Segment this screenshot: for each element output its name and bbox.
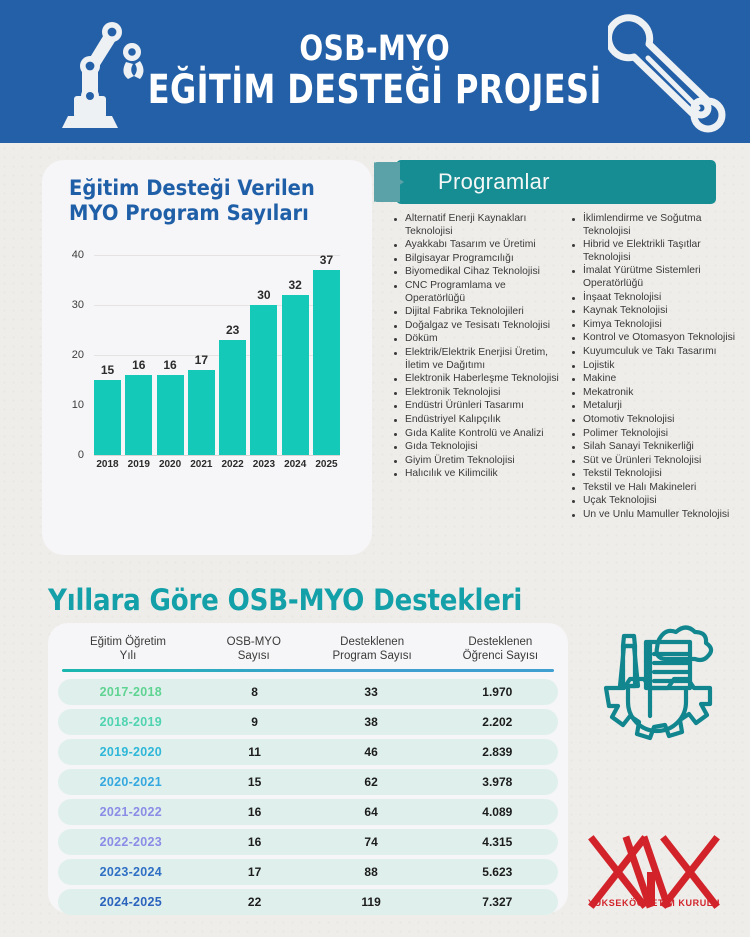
- chart-bar-group: 30: [250, 255, 277, 455]
- program-list-item: Makine: [570, 373, 742, 386]
- table-column-header-line: Desteklenen: [439, 635, 562, 649]
- table-column-header-line: Eğitim Öğretim: [54, 635, 202, 649]
- table-cell-students: 3.978: [437, 775, 558, 789]
- table-cell-programs: 62: [306, 775, 437, 789]
- chart-bar-group: 32: [282, 255, 309, 455]
- page-title: OSB-MYO EĞİTİM DESTEĞİ PROJESİ: [148, 32, 602, 110]
- program-list-item: Elektronik Teknolojisi: [392, 387, 564, 400]
- program-list-item: Doğalgaz ve Tesisatı Teknolojisi: [392, 320, 564, 333]
- program-list-item: Gıda Kalite Kontrolü ve Analizi: [392, 428, 564, 441]
- chart-x-tick: 2019: [125, 459, 152, 470]
- chart-bar-group: 16: [157, 255, 184, 455]
- title-line-2: EĞİTİM DESTEĞİ PROJESİ: [148, 70, 602, 111]
- table-row: 2019-202011462.839: [58, 739, 558, 765]
- program-list-item: Elektronik Haberleşme Teknolojisi: [392, 373, 564, 386]
- chart-bar-group: 17: [188, 255, 215, 455]
- program-list-item: İklimlendirme ve Soğutma Teknolojisi: [570, 213, 742, 238]
- program-list-item: Endüstriyel Kalıpçılık: [392, 414, 564, 427]
- table-cell-students: 7.327: [437, 895, 558, 909]
- chart-x-tick: 2025: [313, 459, 340, 470]
- table-column-header-line: Yılı: [54, 649, 202, 663]
- chart-bar: [282, 295, 309, 455]
- program-list-item: Ayakkabı Tasarım ve Üretimi: [392, 239, 564, 252]
- table-row: 2017-20188331.970: [58, 679, 558, 705]
- chart-bar-value: 15: [101, 363, 114, 377]
- table-column-header-line: OSB-MYO: [202, 635, 306, 649]
- chart-title-line-1: Eğitim Desteği Verilen: [69, 176, 315, 200]
- table-cell-students: 1.970: [437, 685, 558, 699]
- chart-bar-value: 17: [195, 353, 208, 367]
- program-list-item: Polimer Teknolojisi: [570, 428, 742, 441]
- program-list-item: Silah Sanayi Teknikerliği: [570, 441, 742, 454]
- program-list-item: Elektrik/Elektrik Enerjisi Üretim, İleti…: [392, 347, 564, 372]
- chart-bar-value: 16: [132, 358, 145, 372]
- supports-table: Eğitim ÖğretimYılıOSB-MYOSayısıDesteklen…: [48, 623, 568, 913]
- program-list-item: Gıda Teknolojisi: [392, 441, 564, 454]
- table-cell-year: 2019-2020: [58, 745, 204, 759]
- page-header: OSB-MYO EĞİTİM DESTEĞİ PROJESİ: [0, 0, 750, 143]
- table-cell-osb-myo: 22: [204, 895, 306, 909]
- program-list-item: Metalurji: [570, 400, 742, 413]
- table-cell-programs: 74: [306, 835, 437, 849]
- program-list-item: İmalat Yürütme Sistemleri Operatörlüğü: [570, 265, 742, 290]
- table-cell-year: 2024-2025: [58, 895, 204, 909]
- chart-bar-value: 32: [289, 278, 302, 292]
- table-column-header: DesteklenenÖğrenci Sayısı: [439, 635, 562, 663]
- program-list-item: Un ve Unlu Mamuller Teknolojisi: [570, 509, 742, 522]
- program-list-item: Bilgisayar Programcılığı: [392, 253, 564, 266]
- yok-logo-caption: YÜKSEKÖĞRETİM KURULU: [584, 898, 724, 908]
- table-cell-osb-myo: 17: [204, 865, 306, 879]
- table-row: 2018-20199382.202: [58, 709, 558, 735]
- table-row: 2023-202417885.623: [58, 859, 558, 885]
- chart-bar: [188, 370, 215, 455]
- robot-arm-icon: [36, 12, 166, 132]
- chart-x-tick: 2024: [282, 459, 309, 470]
- chart-y-tick: 40: [42, 249, 84, 261]
- programs-column-left: Alternatif Enerji Kaynakları Teknolojisi…: [392, 213, 564, 573]
- table-column-header-line: Öğrenci Sayısı: [439, 649, 562, 663]
- chart-bar-group: 37: [313, 255, 340, 455]
- program-list-item: Halıcılık ve Kilimcilik: [392, 468, 564, 481]
- program-list-item: Süt ve Ürünleri Teknolojisi: [570, 455, 742, 468]
- table-cell-programs: 64: [306, 805, 437, 819]
- table-row: 2020-202115623.978: [58, 769, 558, 795]
- program-list-item: Lojistik: [570, 360, 742, 373]
- table-cell-students: 4.089: [437, 805, 558, 819]
- chart-bar-value: 30: [257, 288, 270, 302]
- chart-bar: [219, 340, 246, 455]
- chevron-right-icon: [374, 162, 404, 202]
- chart-x-axis: 20182019202020212022202320242025: [94, 459, 340, 470]
- program-list-item: Biyomedikal Cihaz Teknolojisi: [392, 266, 564, 279]
- table-cell-year: 2021-2022: [58, 805, 204, 819]
- infographic-page: OSB-MYO EĞİTİM DESTEĞİ PROJESİ Eğitim De…: [0, 0, 750, 937]
- chart-bar-value: 37: [320, 253, 333, 267]
- chart-bar-group: 15: [94, 255, 121, 455]
- table-body: 2017-20188331.9702018-20199382.2022019-2…: [48, 672, 568, 915]
- program-list-item: Mekatronik: [570, 387, 742, 400]
- chart-bar: [313, 270, 340, 455]
- program-list-item: İnşaat Teknolojisi: [570, 292, 742, 305]
- table-cell-programs: 88: [306, 865, 437, 879]
- chart-bar: [250, 305, 277, 455]
- table-cell-osb-myo: 11: [204, 745, 306, 759]
- chart-y-tick: 0: [42, 449, 84, 461]
- table-cell-year: 2018-2019: [58, 715, 204, 729]
- program-list-item: Hibrid ve Elektrikli Taşıtlar Teknolojis…: [570, 239, 742, 264]
- table-cell-year: 2017-2018: [58, 685, 204, 699]
- table-cell-year: 2022-2023: [58, 835, 204, 849]
- bar-chart: 010203040 1516161723303237 2018201920202…: [42, 255, 372, 455]
- programs-column-right: İklimlendirme ve Soğutma TeknolojisiHibr…: [570, 213, 742, 573]
- chart-bar: [94, 380, 121, 455]
- program-list-item: Kaynak Teknolojisi: [570, 305, 742, 318]
- table-cell-students: 4.315: [437, 835, 558, 849]
- table-cell-osb-myo: 8: [204, 685, 306, 699]
- chart-y-tick: 30: [42, 299, 84, 311]
- chart-x-tick: 2021: [188, 459, 215, 470]
- table-row: 2024-2025221197.327: [58, 889, 558, 915]
- chart-bar-value: 16: [163, 358, 176, 372]
- chart-card: Eğitim Desteği Verilen MYO Program Sayıl…: [42, 160, 372, 555]
- program-list-item: Otomotiv Teknolojisi: [570, 414, 742, 427]
- table-column-header-line: Sayısı: [202, 649, 306, 663]
- table-cell-year: 2020-2021: [58, 775, 204, 789]
- table-row: 2022-202316744.315: [58, 829, 558, 855]
- chart-y-tick: 20: [42, 349, 84, 361]
- table-column-header: DesteklenenProgram Sayısı: [306, 635, 439, 663]
- table-cell-osb-myo: 9: [204, 715, 306, 729]
- chart-x-tick: 2022: [219, 459, 246, 470]
- chart-bar: [125, 375, 152, 455]
- table-cell-students: 2.839: [437, 745, 558, 759]
- program-list-item: Giyim Üretim Teknolojisi: [392, 455, 564, 468]
- table-column-header-line: Program Sayısı: [306, 649, 439, 663]
- section-title: Yıllara Göre OSB-MYO Destekleri: [48, 583, 522, 617]
- program-list-item: CNC Programlama ve Operatörlüğü: [392, 280, 564, 305]
- table-cell-osb-myo: 16: [204, 805, 306, 819]
- chart-baseline: [94, 455, 340, 456]
- chart-bar: [157, 375, 184, 455]
- table-column-header: OSB-MYOSayısı: [202, 635, 306, 663]
- chart-x-tick: 2018: [94, 459, 121, 470]
- chart-title: Eğitim Desteği Verilen MYO Program Sayıl…: [69, 176, 339, 226]
- table-cell-programs: 119: [306, 895, 437, 909]
- program-list-item: Döküm: [392, 333, 564, 346]
- table-cell-osb-myo: 15: [204, 775, 306, 789]
- table-column-header: Eğitim ÖğretimYılı: [54, 635, 202, 663]
- table-cell-osb-myo: 16: [204, 835, 306, 849]
- program-list-item: Alternatif Enerji Kaynakları Teknolojisi: [392, 213, 564, 238]
- chart-bar-group: 23: [219, 255, 246, 455]
- table-cell-programs: 46: [306, 745, 437, 759]
- table-cell-students: 5.623: [437, 865, 558, 879]
- chart-x-tick: 2023: [250, 459, 277, 470]
- title-line-1: OSB-MYO: [148, 32, 602, 68]
- program-list-item: Kuyumculuk ve Takı Tasarımı: [570, 346, 742, 359]
- factory-gear-icon: [582, 612, 732, 762]
- chart-x-tick: 2020: [157, 459, 184, 470]
- programs-header: Programlar: [396, 160, 716, 204]
- chart-bar-value: 23: [226, 323, 239, 337]
- table-column-header-line: Desteklenen: [306, 635, 439, 649]
- program-list-item: Kimya Teknolojisi: [570, 319, 742, 332]
- chart-bars: 1516161723303237: [94, 255, 340, 455]
- chart-bar-group: 16: [125, 255, 152, 455]
- program-list-item: Uçak Teknolojisi: [570, 495, 742, 508]
- chart-title-line-2: MYO Program Sayıları: [69, 201, 309, 225]
- chart-y-tick: 10: [42, 399, 84, 411]
- table-header-row: Eğitim ÖğretimYılıOSB-MYOSayısıDesteklen…: [48, 623, 568, 663]
- programs-header-label: Programlar: [438, 169, 550, 195]
- table-cell-students: 2.202: [437, 715, 558, 729]
- table-row: 2021-202216644.089: [58, 799, 558, 825]
- program-list-item: Tekstil ve Halı Makineleri: [570, 482, 742, 495]
- program-list-item: Tekstil Teknolojisi: [570, 468, 742, 481]
- wrench-icon: [608, 14, 728, 134]
- program-list-item: Dijital Fabrika Teknolojileri: [392, 306, 564, 319]
- programs-list: Alternatif Enerji Kaynakları Teknolojisi…: [392, 213, 742, 573]
- program-list-item: Endüstri Ürünleri Tasarımı: [392, 400, 564, 413]
- table-cell-year: 2023-2024: [58, 865, 204, 879]
- table-cell-programs: 38: [306, 715, 437, 729]
- program-list-item: Kontrol ve Otomasyon Teknolojisi: [570, 332, 742, 345]
- table-cell-programs: 33: [306, 685, 437, 699]
